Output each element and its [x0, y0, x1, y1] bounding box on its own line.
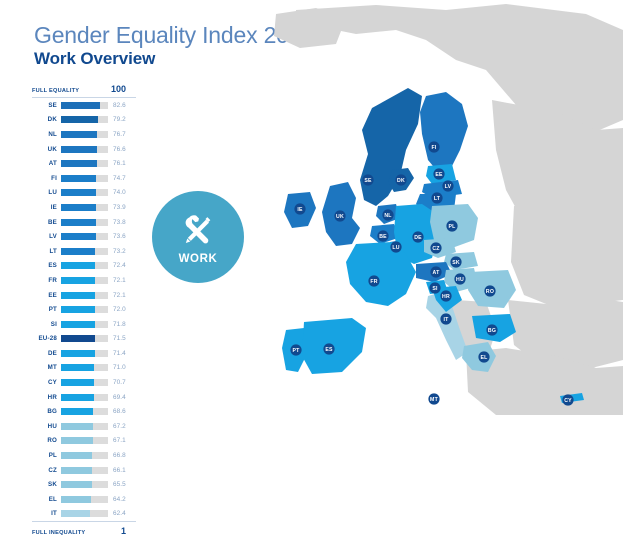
bar-track — [61, 204, 108, 211]
marker-label: HU — [456, 277, 464, 283]
bar-track — [61, 277, 108, 284]
bar-track — [61, 467, 108, 474]
bar-fill — [61, 160, 97, 167]
marker-label: ES — [325, 347, 333, 353]
map-marker-uk: UK — [334, 210, 345, 221]
bar-track — [61, 335, 108, 342]
bar-fill — [61, 292, 95, 299]
bar-fill — [61, 408, 93, 415]
country-code: IT — [32, 510, 61, 517]
country-code: LT — [32, 248, 61, 255]
country-code: SE — [32, 102, 61, 109]
country-SE — [360, 88, 422, 206]
country-code: EE — [32, 292, 61, 299]
country-value: 72.4 — [108, 262, 126, 269]
bar-fill — [61, 437, 93, 444]
country-value: 71.0 — [108, 364, 126, 371]
marker-label: LV — [445, 184, 452, 190]
bar-track — [61, 379, 108, 386]
country-value: 73.6 — [108, 233, 126, 240]
country-value: 72.0 — [108, 306, 126, 313]
bar-track — [61, 364, 108, 371]
country-code: AT — [32, 160, 61, 167]
marker-label: LU — [392, 245, 399, 251]
map-marker-cz: CZ — [430, 242, 441, 253]
marker-label: EL — [480, 355, 488, 361]
map-marker-el: EL — [478, 351, 489, 362]
map-marker-pt: PT — [290, 344, 301, 355]
marker-label: FI — [431, 145, 436, 151]
country-value: 72.1 — [108, 277, 126, 284]
map-marker-mt: MT — [428, 393, 439, 404]
ranking-row: FI74.7 — [32, 171, 136, 186]
marker-label: SE — [364, 178, 372, 184]
country-value: 64.2 — [108, 496, 126, 503]
ranking-row: SI71.8 — [32, 317, 136, 332]
scale-top: FULL EQUALITY 100 — [32, 84, 136, 97]
ranking-row: AT76.1 — [32, 156, 136, 171]
country-code: MT — [32, 364, 61, 371]
ranking-row: HR69.4 — [32, 390, 136, 405]
country-value: 67.2 — [108, 423, 126, 430]
scale-bottom-label: FULL INEQUALITY — [32, 530, 85, 536]
marker-label: RO — [486, 289, 494, 295]
country-value: 73.9 — [108, 204, 126, 211]
marker-label: CY — [564, 398, 572, 404]
ranking-row: HU67.2 — [32, 419, 136, 434]
country-value: 67.1 — [108, 437, 126, 444]
bar-track — [61, 452, 108, 459]
map-marker-de: DE — [412, 231, 423, 242]
bar-track — [61, 496, 108, 503]
map-marker-it: IT — [440, 313, 451, 324]
country-code: HR — [32, 394, 61, 401]
bar-track — [61, 321, 108, 328]
map-marker-es: ES — [323, 343, 334, 354]
ranking-row: MT71.0 — [32, 361, 136, 376]
bar-track — [61, 350, 108, 357]
ranking-row: LV73.6 — [32, 229, 136, 244]
ranking-row: NL76.7 — [32, 127, 136, 142]
bar-fill — [61, 496, 91, 503]
country-value: 76.7 — [108, 131, 126, 138]
bar-fill — [61, 423, 93, 430]
bar-fill — [61, 116, 98, 123]
bar-track — [61, 233, 108, 240]
country-value: 71.5 — [108, 335, 126, 342]
bar-fill — [61, 321, 95, 328]
marker-label: IT — [443, 317, 449, 323]
bar-fill — [61, 248, 95, 255]
bar-track — [61, 262, 108, 269]
ranking-row: SE82.6 — [32, 98, 136, 113]
ranking-row: RO67.1 — [32, 434, 136, 449]
bar-track — [61, 437, 108, 444]
country-code: NL — [32, 131, 61, 138]
bar-fill — [61, 146, 97, 153]
country-code: LU — [32, 189, 61, 196]
bar-fill — [61, 306, 95, 313]
country-value: 73.2 — [108, 248, 126, 255]
bar-track — [61, 306, 108, 313]
ranking-row: LT73.2 — [32, 244, 136, 259]
ranking-row: DE71.4 — [32, 346, 136, 361]
marker-label: IE — [297, 207, 303, 213]
ranking-row: PL66.8 — [32, 448, 136, 463]
country-code: EL — [32, 496, 61, 503]
marker-label: SI — [432, 286, 438, 292]
bar-fill — [61, 189, 96, 196]
country-code: FI — [32, 175, 61, 182]
map-marker-lv: LV — [442, 180, 453, 191]
scale-bottom-value: 1 — [121, 526, 136, 536]
ranking-rows: SE82.6DK79.2NL76.7UK76.6AT76.1FI74.7LU74… — [32, 98, 136, 521]
map-marker-pl: PL — [446, 220, 457, 231]
country-code: CZ — [32, 467, 61, 474]
bar-fill — [61, 131, 97, 138]
country-code: EU-28 — [32, 335, 61, 342]
scale-top-value: 100 — [111, 84, 136, 94]
scale-top-label: FULL EQUALITY — [32, 88, 79, 94]
bar-fill — [61, 510, 90, 517]
marker-label: DK — [397, 178, 405, 184]
work-badge-label: WORK — [179, 253, 218, 265]
marker-label: NL — [384, 213, 392, 219]
country-value: 74.7 — [108, 175, 126, 182]
bar-fill — [61, 394, 94, 401]
bar-track — [61, 116, 108, 123]
map-marker-si: SI — [429, 282, 440, 293]
bar-fill — [61, 481, 92, 488]
country-code: PL — [32, 452, 61, 459]
bar-fill — [61, 452, 92, 459]
country-code: BE — [32, 219, 61, 226]
map-marker-hr: HR — [440, 290, 451, 301]
ranking-row: DK79.2 — [32, 113, 136, 128]
map-marker-hu: HU — [454, 273, 465, 284]
map-marker-ee: EE — [433, 168, 444, 179]
country-value: 74.0 — [108, 189, 126, 196]
map-marker-fr: FR — [368, 275, 379, 286]
ranking-row: LU74.0 — [32, 186, 136, 201]
marker-label: PL — [448, 224, 456, 230]
country-value: 62.4 — [108, 510, 126, 517]
ranking-row: EE72.1 — [32, 288, 136, 303]
marker-label: BE — [379, 234, 387, 240]
map-marker-ro: RO — [484, 285, 495, 296]
infographic-root: Gender Equality Index 2017 Work Overview… — [0, 0, 623, 415]
ranking-row: BG68.6 — [32, 404, 136, 419]
bar-fill — [61, 467, 92, 474]
bar-fill — [61, 233, 96, 240]
map-marker-be: BE — [377, 230, 388, 241]
map-marker-at: AT — [430, 266, 441, 277]
marker-label: DE — [414, 235, 422, 241]
country-code: UK — [32, 146, 61, 153]
country-code: BG — [32, 408, 61, 415]
country-value: 72.1 — [108, 292, 126, 299]
country-code: DE — [32, 350, 61, 357]
bar-track — [61, 248, 108, 255]
marker-label: MT — [430, 397, 439, 403]
europe-choropleth-map: SEFIEELVLTDKIEUKNLBELUDEFRPTESITPLCZSKAT… — [256, 0, 623, 415]
work-domain-badge: WORK — [152, 191, 244, 283]
country-value: 69.4 — [108, 394, 126, 401]
bar-track — [61, 292, 108, 299]
ranking-row: EL64.2 — [32, 492, 136, 507]
map-marker-bg: BG — [486, 324, 497, 335]
map-marker-sk: SK — [450, 256, 461, 267]
bar-fill — [61, 277, 95, 284]
country-code: SI — [32, 321, 61, 328]
country-value: 65.5 — [108, 481, 126, 488]
map-marker-fi: FI — [428, 141, 439, 152]
map-marker-ie: IE — [294, 203, 305, 214]
bar-track — [61, 160, 108, 167]
ranking-row: EU-2871.5 — [32, 332, 136, 347]
marker-label: FR — [370, 279, 377, 285]
ranking-row: IE73.9 — [32, 200, 136, 215]
bar-track — [61, 510, 108, 517]
map-marker-lt: LT — [431, 192, 442, 203]
country-value: 73.8 — [108, 219, 126, 226]
bar-track — [61, 481, 108, 488]
bar-fill — [61, 102, 100, 109]
country-ranking-chart: FULL EQUALITY 100 SE82.6DK79.2NL76.7UK76… — [32, 84, 136, 536]
bar-fill — [61, 219, 96, 226]
bar-track — [61, 408, 108, 415]
ranking-row: CZ66.1 — [32, 463, 136, 478]
map-marker-lu: LU — [390, 241, 401, 252]
marker-label: UK — [336, 214, 344, 220]
wrench-pencil-icon — [178, 212, 218, 252]
ranking-row: SK65.5 — [32, 477, 136, 492]
ranking-row: CY70.7 — [32, 375, 136, 390]
country-ES — [302, 318, 366, 374]
bar-fill — [61, 204, 96, 211]
bar-track — [61, 189, 108, 196]
bar-fill — [61, 350, 95, 357]
country-code: CY — [32, 379, 61, 386]
bar-fill — [61, 175, 96, 182]
map-marker-se: SE — [362, 174, 373, 185]
ranking-row: ES72.4 — [32, 259, 136, 274]
bar-fill — [61, 262, 95, 269]
marker-label: EE — [435, 172, 443, 178]
country-value: 71.8 — [108, 321, 126, 328]
country-code: SK — [32, 481, 61, 488]
map-marker-dk: DK — [395, 174, 406, 185]
ranking-row: FR72.1 — [32, 273, 136, 288]
bar-track — [61, 175, 108, 182]
country-code: IE — [32, 204, 61, 211]
ranking-row: PT72.0 — [32, 302, 136, 317]
country-code: ES — [32, 262, 61, 269]
marker-label: LT — [434, 196, 441, 202]
bar-track — [61, 146, 108, 153]
country-code: LV — [32, 233, 61, 240]
scale-bottom: FULL INEQUALITY 1 — [32, 522, 136, 536]
country-code: HU — [32, 423, 61, 430]
country-code: DK — [32, 116, 61, 123]
country-value: 82.6 — [108, 102, 126, 109]
ranking-row: IT62.4 — [32, 507, 136, 522]
country-FI — [420, 92, 468, 172]
country-value: 66.8 — [108, 452, 126, 459]
ranking-row: BE73.8 — [32, 215, 136, 230]
marker-label: AT — [433, 270, 441, 276]
bar-track — [61, 423, 108, 430]
bar-fill — [61, 379, 94, 386]
map-marker-cy: CY — [562, 394, 573, 405]
ranking-row: UK76.6 — [32, 142, 136, 157]
country-code: RO — [32, 437, 61, 444]
marker-label: SK — [452, 260, 460, 266]
bar-fill — [61, 335, 95, 342]
marker-label: HR — [442, 294, 450, 300]
bar-track — [61, 219, 108, 226]
country-value: 68.6 — [108, 408, 126, 415]
country-value: 76.6 — [108, 146, 126, 153]
country-value: 76.1 — [108, 160, 126, 167]
country-value: 70.7 — [108, 379, 126, 386]
marker-label: CZ — [432, 246, 440, 252]
marker-label: BG — [488, 328, 496, 334]
country-value: 71.4 — [108, 350, 126, 357]
bar-track — [61, 102, 108, 109]
bar-track — [61, 131, 108, 138]
bar-fill — [61, 364, 94, 371]
map-marker-nl: NL — [382, 209, 393, 220]
bar-track — [61, 394, 108, 401]
marker-label: PT — [292, 348, 300, 354]
country-code: PT — [32, 306, 61, 313]
country-value: 79.2 — [108, 116, 126, 123]
country-code: FR — [32, 277, 61, 284]
country-value: 66.1 — [108, 467, 126, 474]
